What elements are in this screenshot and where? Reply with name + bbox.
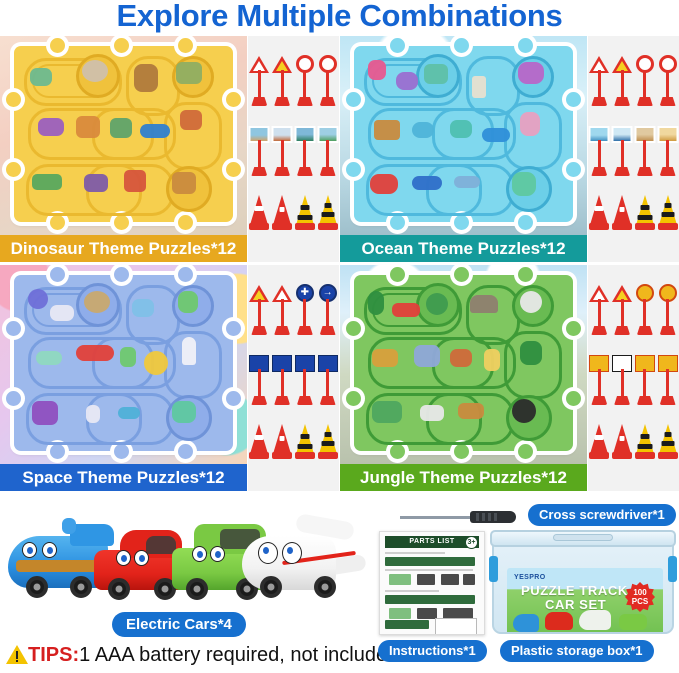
sign-picture-ocean-2-icon [612,114,632,176]
space-puzzle-board [14,275,233,451]
road-sign-row-warning [248,44,339,106]
quadrant-ocean: Ocean Theme Puzzles*12 [340,36,679,262]
sign-toilet-icon [612,343,632,405]
sign-walking-icon [318,343,338,405]
traffic-cone-plain-icon [612,184,632,230]
box-clip-right[interactable] [668,556,677,582]
road-sign-column [248,36,339,235]
sign-no-entry-hand-icon [295,44,315,106]
ocean-road-signs-panel: Road Signs*12 [588,36,679,262]
sign-warning-triangle-icon [589,44,609,106]
instructions-sheet: PARTS LIST 3+ [379,531,485,635]
quadrant-jungle: Jungle Theme Puzzles*12 [340,265,679,491]
pcs-badge-unit: PCS [632,597,648,606]
sign-crossroad-triangle-icon [612,273,632,335]
sign-warning-triangle-icon [589,273,609,335]
space-puzzle-label: Space Theme Puzzles*12 [0,464,247,491]
road-sign-column: ✚ → [248,265,339,464]
tips-text: 1 AAA battery required, not included [79,644,398,666]
road-sign-row-picture [248,114,339,176]
sign-warning-triangle-icon [272,273,292,335]
quadrant-dinosaur: Dinosaur Theme Puzzles*12 [0,36,339,262]
sign-panda-circle-icon [658,273,678,335]
traffic-cone-yellow-black-icon [635,413,655,459]
sign-picture-dino-1-icon [249,114,269,176]
traffic-cone-row [248,184,339,230]
sign-arrow-right-blue-icon: → [318,273,338,335]
page-title: Explore Multiple Combinations [0,0,679,34]
warning-triangle-icon [6,645,28,664]
box-lid [490,530,676,547]
theme-grid: Dinosaur Theme Puzzles*12 [0,36,679,502]
sign-slippery-triangle-icon [272,44,292,106]
road-sign-row-warning [588,44,679,106]
sign-crosswalk-icon [249,343,269,405]
dinosaur-puzzle-label: Dinosaur Theme Puzzles*12 [0,235,247,262]
dinosaur-puzzle-panel: Dinosaur Theme Puzzles*12 [0,36,247,262]
box-handle[interactable] [553,534,613,541]
traffic-cone-row [588,184,679,230]
box-body: YESPRO PUZZLE TRACK CAR SET 100 PCS [492,540,674,634]
traffic-cone-striped-icon [318,413,338,459]
box-clip-left[interactable] [489,556,498,582]
road-sign-row-picture [588,114,679,176]
sign-tiger-park-icon [635,343,655,405]
ocean-puzzle-board [354,46,573,222]
road-sign-row-info [588,343,679,405]
electric-cars-group [6,502,358,614]
traffic-cone-row [588,413,679,459]
quadrant-space: Space Theme Puzzles*12 ✚ → [0,265,339,491]
box-title-line1: PUZZLE TRACK [521,583,628,598]
jungle-puzzle-board [354,275,573,451]
traffic-cone-striped-icon [318,184,338,230]
cross-screwdriver-icon [400,510,520,524]
jungle-scene [340,265,587,464]
road-sign-row-info [248,343,339,405]
plastic-storage-box: YESPRO PUZZLE TRACK CAR SET 100 PCS [492,530,674,634]
traffic-cone-plain-icon [612,413,632,459]
ocean-puzzle-label: Ocean Theme Puzzles*12 [340,235,587,262]
sign-roundabout-blue-icon: ✚ [295,273,315,335]
sign-elephant-zone-icon [589,343,609,405]
cross-screwdriver-label: Cross screwdriver*1 [528,504,676,526]
traffic-cone-yellow-black-icon [295,184,315,230]
jungle-puzzle-label: Jungle Theme Puzzles*12 [340,464,587,491]
sign-no-fishing-icon [658,44,678,106]
traffic-cone-white-stripe-icon [249,184,269,230]
traffic-cone-plain-icon [272,413,292,459]
space-puzzle-panel: Space Theme Puzzles*12 [0,265,247,491]
ocean-puzzle-panel: Ocean Theme Puzzles*12 [340,36,587,262]
plastic-storage-box-label: Plastic storage box*1 [500,640,654,662]
ocean-scene [340,36,587,235]
dinosaur-road-signs-panel: Road Signs*12 [248,36,339,262]
sign-warning-triangle-icon [249,44,269,106]
age-badge: 3+ [465,536,478,549]
sign-crossroad-triangle-icon [249,273,269,335]
space-scene [0,265,247,464]
box-label: YESPRO PUZZLE TRACK CAR SET 100 PCS [507,568,663,634]
product-infographic: Explore Multiple Combinations [0,0,679,673]
traffic-cone-yellow-black-icon [295,413,315,459]
traffic-cone-white-stripe-icon [589,184,609,230]
road-sign-column [588,265,679,464]
dinosaur-puzzle-board [14,46,233,222]
traffic-cone-white-stripe-icon [249,413,269,459]
sign-picture-dino-3-icon [295,114,315,176]
pcs-badge-count: 100 [633,588,646,597]
sign-no-vehicles-icon [318,44,338,106]
traffic-cone-row [248,413,339,459]
pcs-badge: 100 PCS [625,582,655,612]
space-road-signs-panel: ✚ → [248,265,339,491]
jungle-puzzle-panel: Jungle Theme Puzzles*12 [340,265,587,491]
box-brand: YESPRO [514,574,546,581]
sign-picture-dino-2-icon [272,114,292,176]
sign-no-swimming-icon [635,44,655,106]
traffic-cone-white-stripe-icon [589,413,609,459]
sign-picture-ocean-1-icon [589,114,609,176]
sign-picture-ocean-3-icon [635,114,655,176]
sign-picture-dino-4-icon [318,114,338,176]
vehicle-white-airplane [242,512,366,606]
jungle-road-signs-panel: Road Signs*12 [588,265,679,491]
sign-picture-ocean-4-icon [658,114,678,176]
sign-parking-icon [295,343,315,405]
instructions-label: Instructions*1 [378,640,487,662]
accessories-section: Electric Cars*4 TIPS:1 AAA battery requi… [0,502,679,673]
sign-dining-room-icon [658,343,678,405]
sign-animal-crossing-icon [635,273,655,335]
traffic-cone-yellow-black-icon [635,184,655,230]
traffic-cone-plain-icon [272,184,292,230]
traffic-cone-striped-icon [658,184,678,230]
tips-note: TIPS:1 AAA battery required, not include… [6,642,398,668]
traffic-cone-striped-icon [658,413,678,459]
sign-caution-triangle-icon [612,44,632,106]
dinosaur-scene [0,36,247,235]
road-sign-column [588,36,679,235]
sign-merge-arrow-icon [272,343,292,405]
tips-keyword: TIPS: [28,644,79,666]
road-sign-row-warning [588,273,679,335]
electric-cars-label: Electric Cars*4 [112,612,246,637]
road-sign-row-warning: ✚ → [248,273,339,335]
